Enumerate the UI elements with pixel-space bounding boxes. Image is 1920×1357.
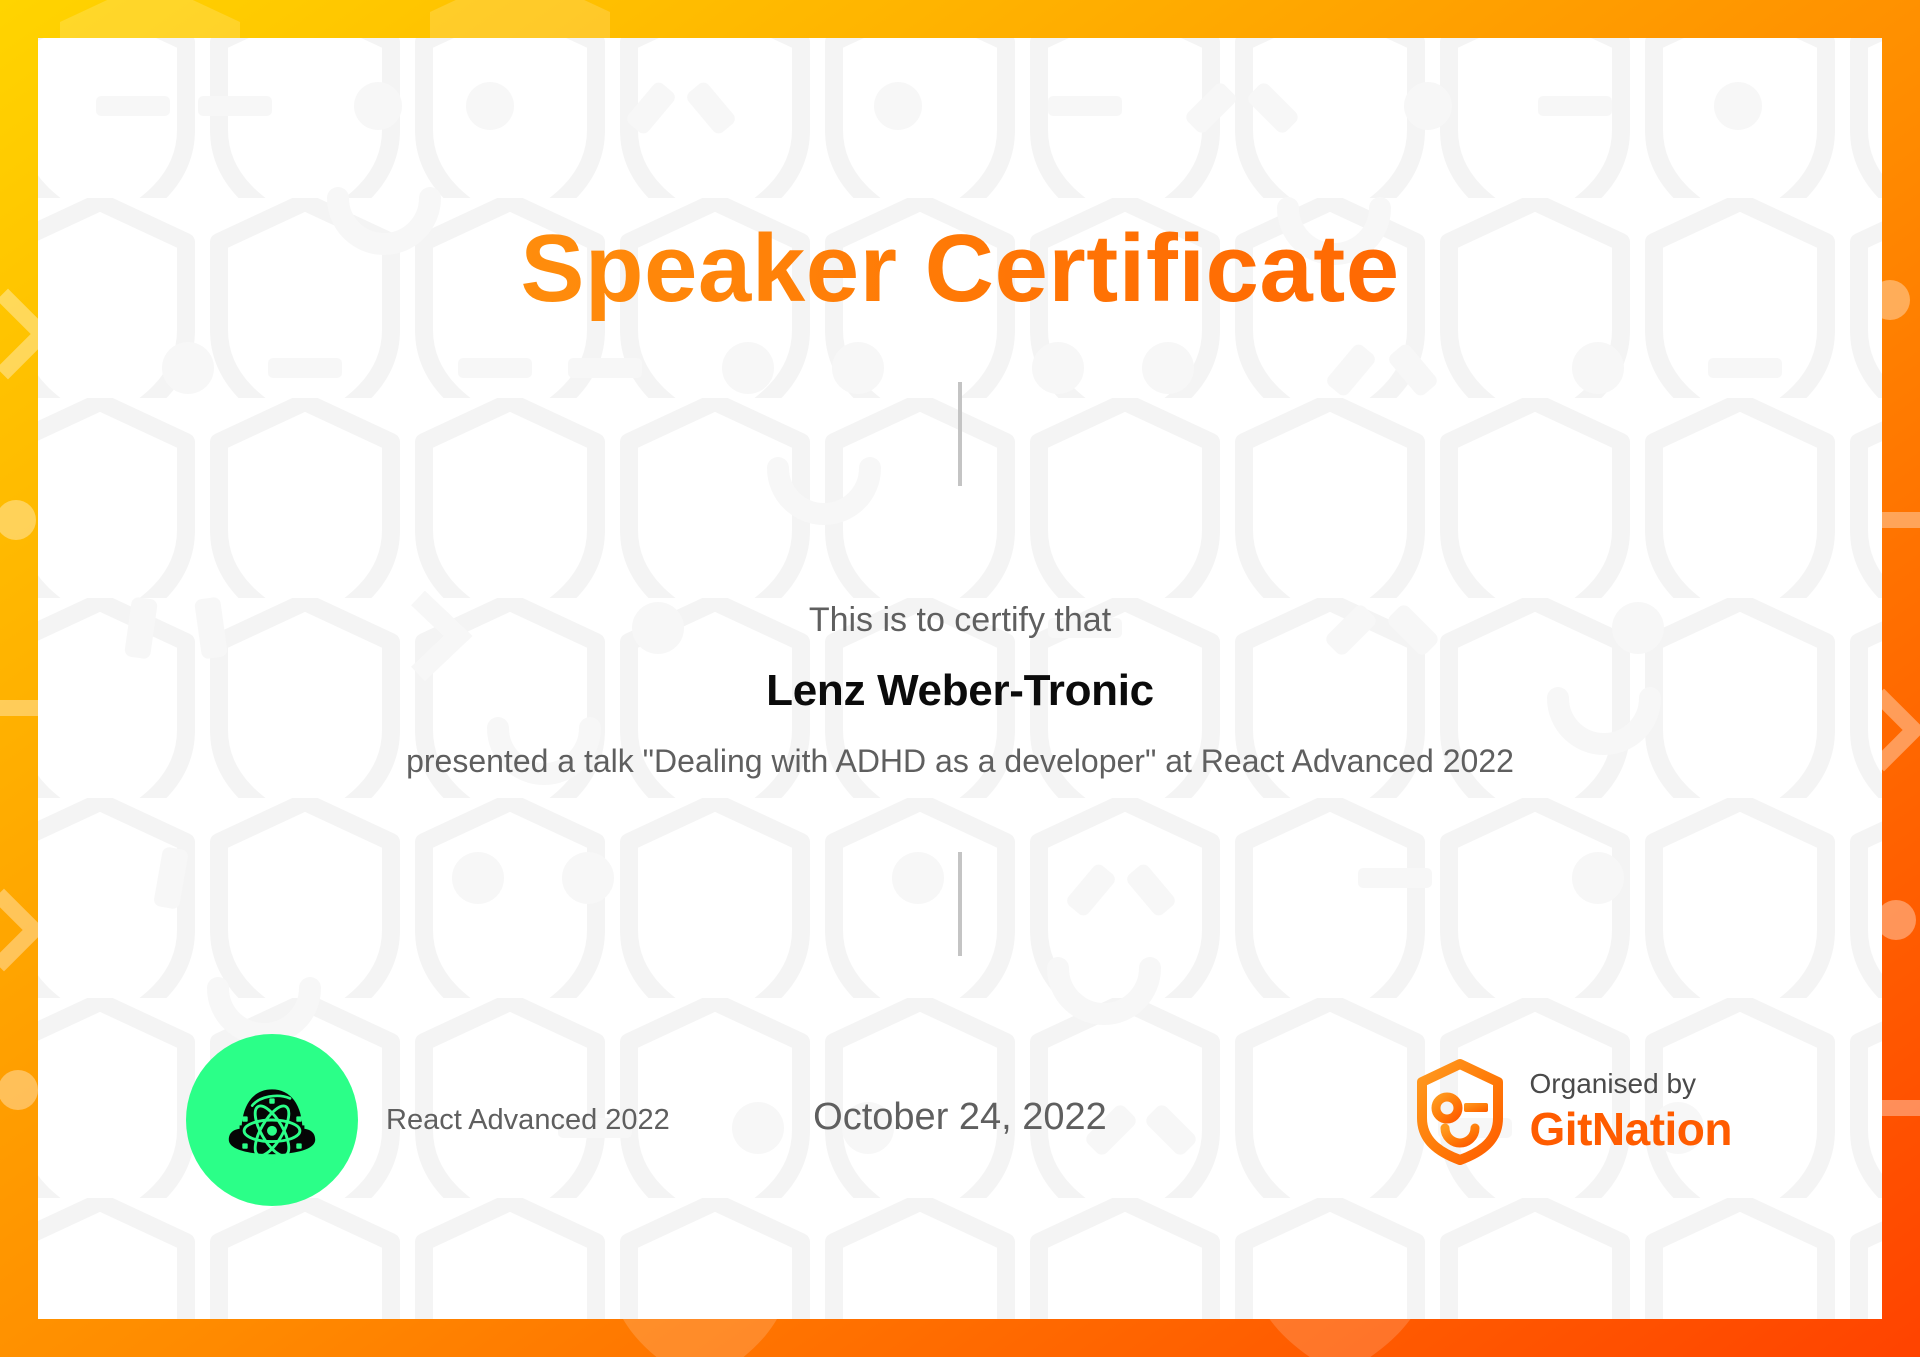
event-badge: React Advanced 2022: [186, 1034, 670, 1206]
certificate-footer: React Advanced 2022 October 24, 2022: [38, 1034, 1882, 1204]
divider-top: [958, 382, 962, 486]
organiser-name: GitNation: [1530, 1103, 1732, 1156]
gitnation-shield-face-icon: [1414, 1058, 1506, 1166]
react-advanced-logo: [186, 1034, 358, 1206]
certificate-date: October 24, 2022: [813, 1096, 1107, 1139]
certify-line: This is to certify that: [38, 601, 1882, 640]
react-hat-logo-icon: [209, 1057, 335, 1183]
talk-description: presented a talk "Dealing with ADHD as a…: [38, 743, 1882, 780]
divider-bottom: [958, 852, 962, 956]
page-title: Speaker Certificate: [38, 214, 1882, 324]
certificate-frame: Speaker Certificate This is to certify t…: [0, 0, 1920, 1357]
recipient-name: Lenz Weber-Tronic: [38, 666, 1882, 716]
certificate-card: Speaker Certificate This is to certify t…: [38, 38, 1882, 1319]
event-name: React Advanced 2022: [386, 1104, 670, 1137]
organiser-badge: Organised by GitNation: [1414, 1058, 1732, 1166]
organised-by-label: Organised by: [1530, 1068, 1732, 1100]
